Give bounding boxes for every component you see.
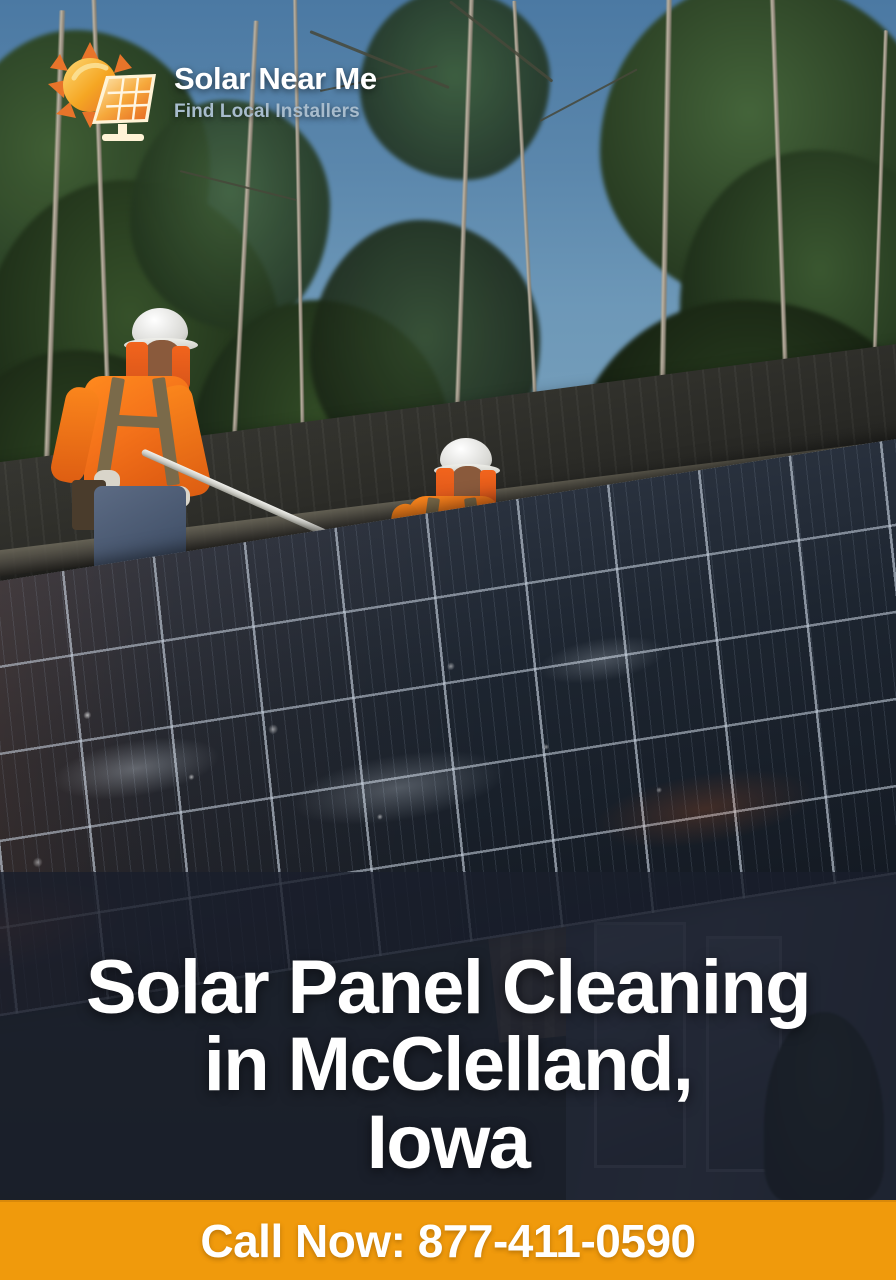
brand-logo[interactable]: Solar Near Me Find Local Installers bbox=[44, 40, 377, 144]
brand-text: Solar Near Me Find Local Installers bbox=[174, 63, 377, 121]
headline-line-2: in McClelland, bbox=[20, 1026, 876, 1104]
solar-cleaning-poster: Solar Near Me Find Local Installers Sola… bbox=[0, 0, 896, 1280]
headline-line-1: Solar Panel Cleaning bbox=[86, 945, 810, 1030]
sun-solar-panel-icon bbox=[44, 40, 160, 144]
page-title: Solar Panel Cleaning in McClelland, Iowa bbox=[0, 949, 896, 1182]
call-now-label[interactable]: Call Now: 877-411-0590 bbox=[200, 1214, 695, 1268]
brand-tagline: Find Local Installers bbox=[174, 102, 377, 121]
headline-line-3: Iowa bbox=[20, 1104, 876, 1182]
call-now-bar[interactable]: Call Now: 877-411-0590 bbox=[0, 1200, 896, 1280]
brand-name: Solar Near Me bbox=[174, 63, 377, 94]
